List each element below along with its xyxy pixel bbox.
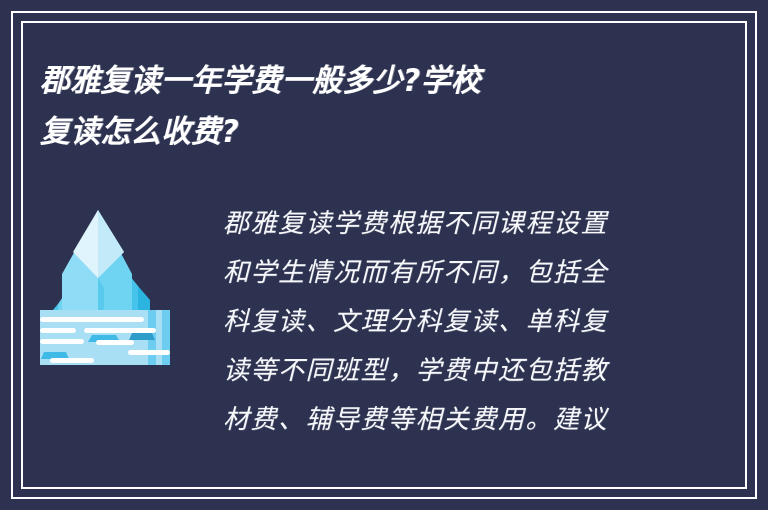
body-line-1: 郡雅复读学费根据不同课程设置 xyxy=(223,200,728,249)
content-row: 郡雅复读学费根据不同课程设置 和学生情况而有所不同，包括全 科复读、文理分科复读… xyxy=(40,192,728,445)
body-line-5: 材费、辅导费等相关费用。建议 xyxy=(223,396,728,445)
page-title: 郡雅复读一年学费一般多少?学校 复读怎么收费? xyxy=(40,56,690,158)
iceberg-icon xyxy=(40,200,170,365)
title-line-1: 郡雅复读一年学费一般多少?学校 xyxy=(40,56,664,107)
body-line-3: 科复读、文理分科复读、单科复 xyxy=(223,298,728,347)
body-line-4: 读等不同班型，学费中还包括教 xyxy=(223,347,728,396)
iceberg-illustration xyxy=(40,192,185,365)
body-line-2: 和学生情况而有所不同，包括全 xyxy=(223,249,728,298)
body-paragraph: 郡雅复读学费根据不同课程设置 和学生情况而有所不同，包括全 科复读、文理分科复读… xyxy=(185,192,728,445)
poster-canvas: 郡雅复读一年学费一般多少?学校 复读怎么收费? xyxy=(0,0,768,510)
title-line-2: 复读怎么收费? xyxy=(40,107,664,158)
